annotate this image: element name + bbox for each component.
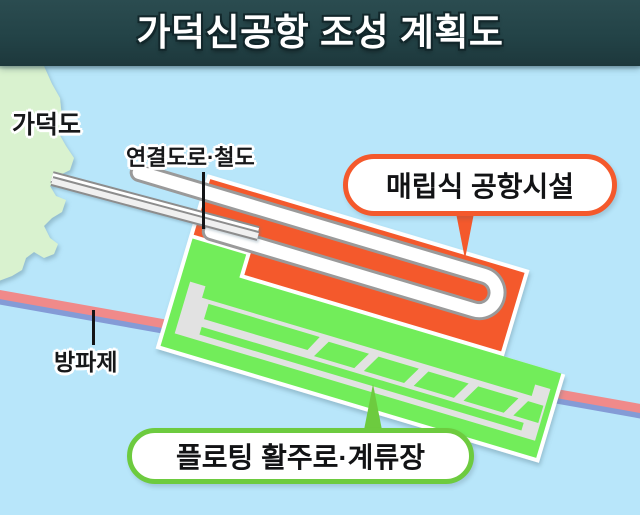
callout-floating-label: 플로팅 활주로·계류장: [176, 436, 425, 476]
callout-pointer-floating: [364, 384, 382, 430]
callout-pointer-landfill: [456, 213, 474, 259]
leader-line-breakwater: [92, 310, 95, 345]
leader-line-connecting-road: [202, 172, 205, 229]
callout-floating-runway-apron: 플로팅 활주로·계류장: [127, 428, 474, 484]
callout-landfill-airport-facility: 매립식 공항시설: [343, 154, 617, 216]
label-connecting-road-rail: 연결도로·철도: [126, 140, 255, 172]
label-breakwater: 방파제: [54, 343, 117, 377]
title-banner: 가덕신공항 조성 계획도: [0, 0, 640, 66]
label-gadeokdo: 가덕도: [12, 105, 81, 141]
infographic-canvas: 가덕신공항 조성 계획도 가덕도 연결도로·철도 방파제 매립식 공항시설 플로…: [0, 0, 640, 515]
page-title: 가덕신공항 조성 계획도: [0, 5, 640, 61]
callout-landfill-label: 매립식 공항시설: [386, 165, 574, 205]
